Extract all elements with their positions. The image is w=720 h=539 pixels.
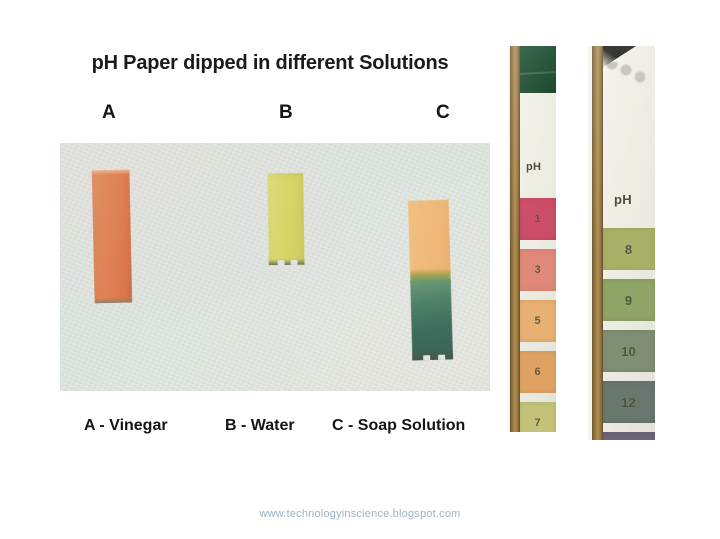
ph-strip-soap-solution	[408, 199, 453, 360]
strip-a-top-edge	[92, 170, 130, 176]
ph-swatch-value: 10	[621, 344, 635, 359]
ph-swatch-value: 6	[534, 366, 540, 378]
ph-swatch-3: 3	[519, 249, 556, 291]
source-url: www.technologyinscience.blogspot.com	[0, 508, 720, 520]
ph-swatch-value: 3	[534, 264, 540, 276]
strip-a-bottom-edge	[95, 298, 131, 304]
ph-swatch-1: 1	[519, 198, 556, 240]
ph-strip-vinegar	[92, 170, 133, 304]
strip-c-upper-orange-zone	[408, 199, 451, 274]
strip-c-notch	[423, 355, 430, 361]
strip-c-bottom-edge	[412, 350, 453, 360]
ph-swatch-value: 8	[625, 242, 632, 257]
strip-c-notch	[438, 355, 445, 361]
ph-swatch-9: 9	[602, 279, 655, 321]
strip-b-notch	[278, 260, 285, 265]
ph-color-chart-acidic: pH 13567	[508, 46, 556, 432]
column-letter-a: A	[102, 102, 116, 124]
ph-swatch-value: 12	[621, 395, 635, 410]
ph-swatch-10: 10	[602, 330, 655, 372]
basic-chart-ph-label: pH	[614, 192, 632, 207]
strip-b-notch	[291, 260, 298, 265]
ph-swatch-12: 12	[602, 381, 655, 423]
page-title: pH Paper dipped in different Solutions	[0, 52, 540, 75]
strip-b-color-field	[267, 173, 304, 265]
basic-chart-paper-shadow	[604, 62, 654, 86]
ph-swatch-14: 14	[602, 432, 655, 440]
acidic-chart-ph-label: pH	[526, 161, 541, 173]
ph-swatch-value: 7	[534, 417, 540, 429]
ph-swatch-value: 1	[534, 213, 540, 225]
caption-water: B - Water	[225, 417, 295, 435]
strip-a-color-field	[92, 170, 133, 304]
column-letter-b: B	[279, 102, 293, 124]
strip-b-bottom-edge	[269, 258, 305, 266]
ph-swatch-5: 5	[519, 300, 556, 342]
ph-strip-water	[267, 173, 304, 265]
ph-swatch-6: 6	[519, 351, 556, 393]
wooden-stick	[510, 46, 520, 432]
ph-swatch-7: 7	[519, 402, 556, 432]
ph-swatch-value: 9	[625, 293, 632, 308]
caption-vinegar: A - Vinegar	[84, 417, 168, 435]
strip-c-lower-green-zone	[410, 279, 453, 360]
ph-swatch-value: 5	[534, 315, 540, 327]
slide-canvas: pH Paper dipped in different Solutions A…	[0, 0, 720, 539]
caption-soap-solution: C - Soap Solution	[332, 417, 465, 435]
ph-color-chart-basic: pH 89101214	[588, 46, 655, 440]
acidic-chart-dark-green-patch	[519, 46, 556, 93]
wooden-stick	[592, 46, 603, 440]
column-letter-c: C	[436, 102, 450, 124]
ph-swatch-8: 8	[602, 228, 655, 270]
ph-paper-photograph	[60, 143, 490, 391]
